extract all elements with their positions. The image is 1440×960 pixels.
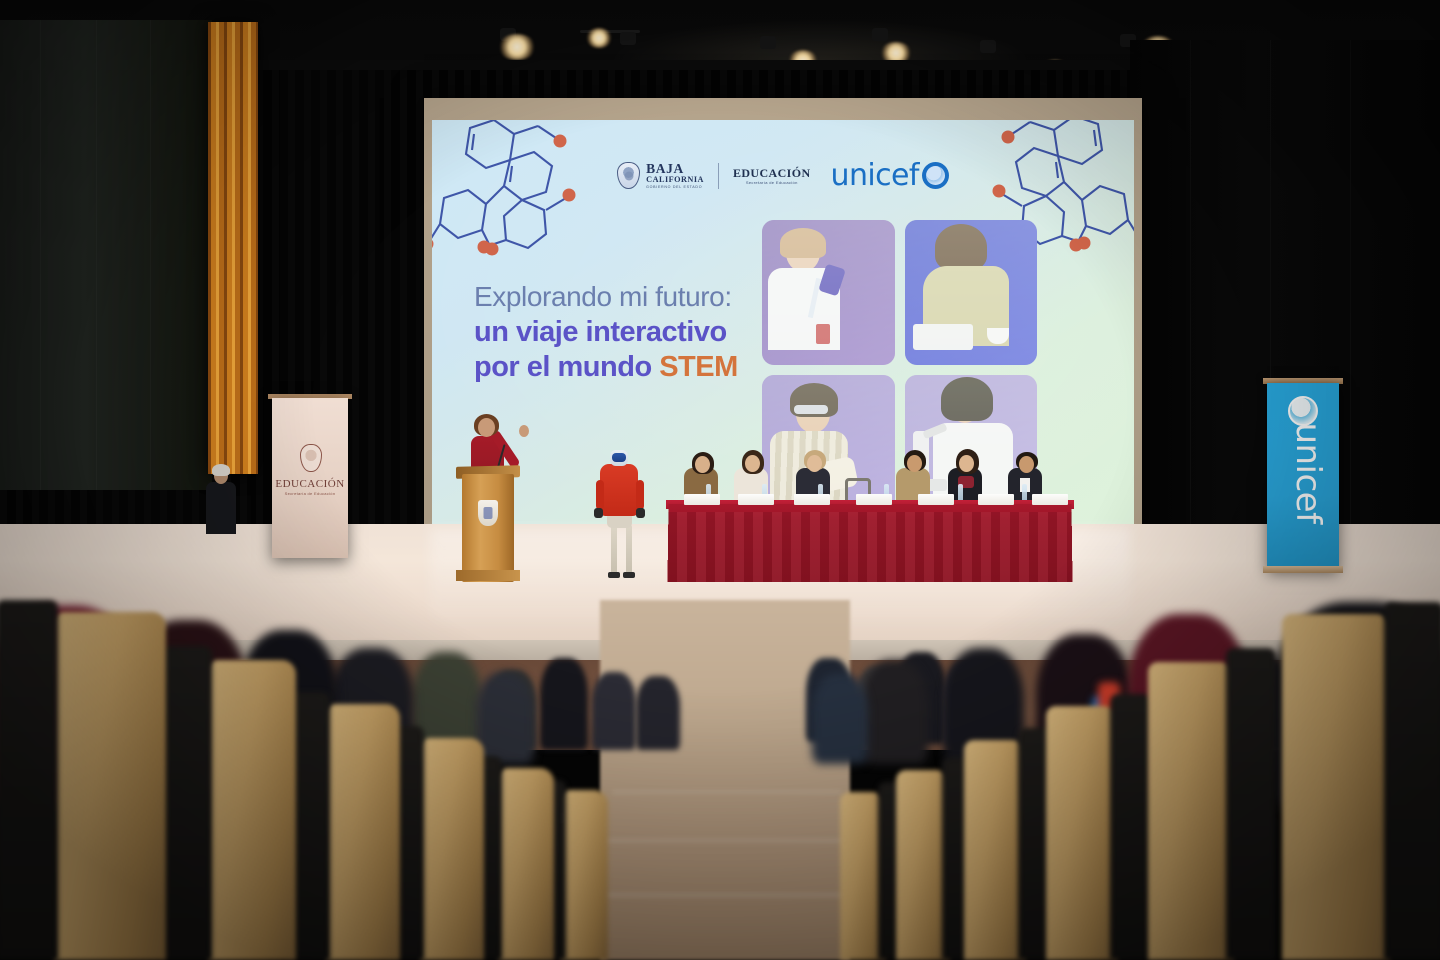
orange-curtain <box>208 22 258 474</box>
unicef-logo: unicef <box>831 162 949 189</box>
banner-educacion-subtitle: Secretaría de Educación <box>272 491 348 496</box>
robot-leg-left <box>611 524 617 576</box>
unicef-banner-wordmark: unicef <box>1291 418 1325 528</box>
stage-light <box>586 28 612 48</box>
audience-seat-upholstery <box>1226 648 1276 960</box>
slide-headline-line1: Explorando mi futuro: <box>474 280 804 313</box>
aisle-step <box>590 892 862 898</box>
stage-curtain-left <box>0 20 212 490</box>
far-audience-member <box>636 676 680 750</box>
audience-seat <box>208 660 296 960</box>
slide-headline-line2: un viaje interactivo <box>474 315 804 350</box>
robot-foot-right <box>623 572 635 578</box>
slide-headline: Explorando mi futuro: un viaje interacti… <box>474 280 804 385</box>
educacion-logo: EDUCACIÓN Secretaría de Educación <box>733 167 811 186</box>
baja-logo-line1: BAJA <box>646 162 704 176</box>
slide-headline-line3-prefix: por el mundo <box>474 351 659 383</box>
audience-seat <box>54 612 166 960</box>
audience-seat <box>1282 614 1390 960</box>
unicef-banner-foot <box>1263 566 1343 573</box>
audience-member <box>812 674 868 764</box>
audience-seat <box>420 738 484 960</box>
audience-seat-upholstery <box>162 646 212 960</box>
slide-photo-student-writing <box>905 220 1038 365</box>
robot-visor-icon <box>612 453 626 462</box>
robot-arm-right <box>636 480 644 510</box>
audience-area <box>0 600 1440 960</box>
banner-educacion-title: EDUCACIÓN <box>272 478 348 490</box>
unicef-logo-wordmark: unicef <box>831 162 919 189</box>
name-card <box>794 494 830 505</box>
center-aisle <box>600 600 850 960</box>
unicef-globe-icon <box>922 162 949 189</box>
stage-attendant-hair <box>212 464 230 476</box>
audience-seat <box>326 704 400 960</box>
name-card <box>918 494 954 505</box>
stage-attendant <box>206 482 236 534</box>
audience-seat-upholstery <box>1384 602 1440 960</box>
audience-seat-upholstery <box>1110 694 1152 960</box>
wooden-podium <box>462 474 514 582</box>
water-bottle <box>1022 484 1027 501</box>
name-card <box>738 494 774 505</box>
audience-seat <box>498 768 554 960</box>
audience-seat-upholstery <box>0 600 58 960</box>
name-card <box>1032 494 1068 505</box>
molecule-graphic-left <box>432 120 596 270</box>
audience-seat <box>560 790 608 960</box>
audience-seat <box>1148 662 1234 960</box>
water-bottle <box>958 484 963 501</box>
audience-member <box>862 660 928 764</box>
podium-base <box>456 570 520 581</box>
name-card <box>856 494 892 505</box>
slide-headline-stem-accent: STEM <box>659 351 738 383</box>
educacion-logo-subtitle: Secretaría de Educación <box>733 181 811 185</box>
baja-logo-line2: CALIFORNIA <box>646 176 704 184</box>
robot-hand-left <box>594 508 603 518</box>
stage-lamp-housing <box>620 32 636 45</box>
slide-photo-scientist-pipetting <box>762 220 895 365</box>
far-audience-member <box>540 658 588 750</box>
stage-lamp-housing <box>980 40 996 53</box>
stage-lamp-housing <box>760 36 776 49</box>
robot-foot-left <box>608 572 620 578</box>
audience-seat <box>1046 706 1118 960</box>
stage-lamp-housing <box>872 28 888 41</box>
robot-torso <box>600 464 638 516</box>
aisle-step <box>602 838 852 843</box>
robot-leg-right <box>626 524 632 576</box>
podium-crest-emblem <box>478 500 498 526</box>
baja-logo-line3: GOBIERNO DEL ESTADO <box>646 186 704 190</box>
far-audience-member <box>592 672 636 750</box>
panel-table-drape <box>668 512 1072 582</box>
aisle-step <box>612 790 842 794</box>
slide-logo-strip: BAJA CALIFORNIA GOBIERNO DEL ESTADO EDUC… <box>432 162 1134 190</box>
speaker-waving-hand <box>519 425 529 437</box>
slide-headline-line3: por el mundo STEM <box>474 350 804 385</box>
baja-california-crest-icon <box>617 162 640 189</box>
name-card <box>684 494 720 505</box>
stage-light <box>498 34 536 60</box>
audience-member <box>476 672 534 764</box>
robot-hand-right <box>636 508 645 518</box>
name-card <box>978 494 1014 505</box>
event-photo-scene: BAJA CALIFORNIA GOBIERNO DEL ESTADO EDUC… <box>0 0 1440 960</box>
robot-arm-left <box>596 480 604 510</box>
speaker-head <box>478 418 495 437</box>
audience-seat <box>964 740 1026 960</box>
educacion-logo-title: EDUCACIÓN <box>733 167 811 179</box>
baja-california-logo: BAJA CALIFORNIA GOBIERNO DEL ESTADO <box>617 162 704 190</box>
logo-divider <box>718 163 719 189</box>
